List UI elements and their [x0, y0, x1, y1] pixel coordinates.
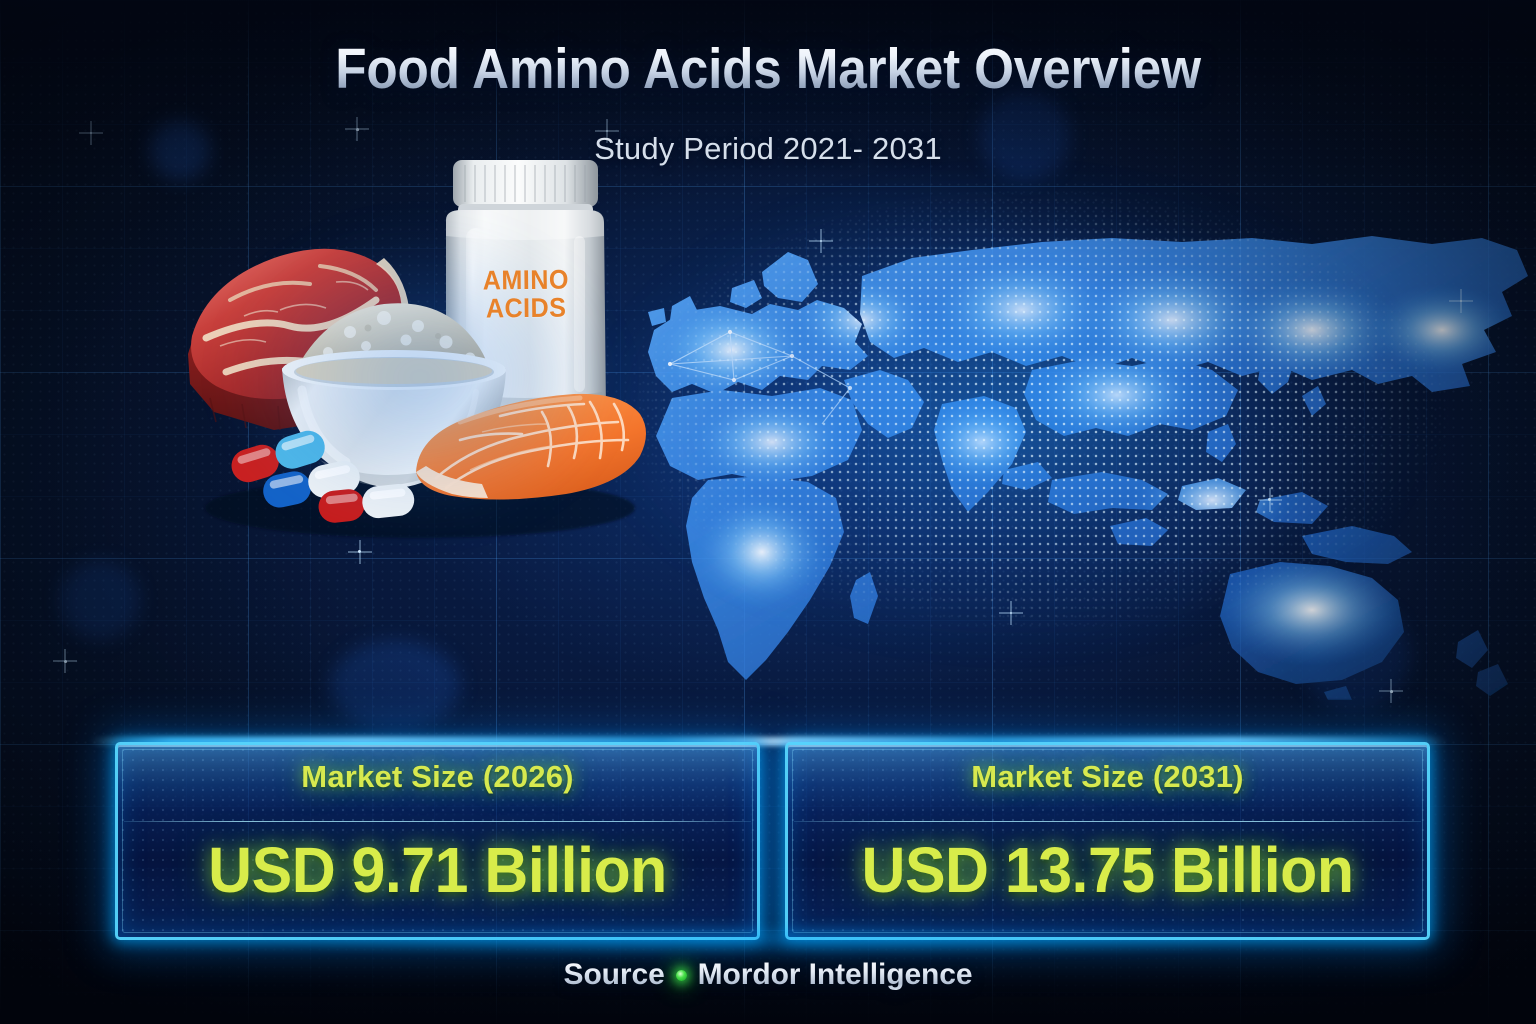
stat-card-market-size-2031[interactable]: Market Size (2031) USD 13.75 Billion — [785, 742, 1430, 940]
product-imagery-group: AMINO ACIDS — [170, 140, 670, 540]
sparkle-star — [1390, 690, 1393, 693]
source-footer: Source Mordor Intelligence — [0, 958, 1536, 992]
stat-card-label: Market Size (2026) — [118, 759, 757, 795]
bokeh-glow — [1300, 600, 1410, 710]
stat-card-market-size-2026[interactable]: Market Size (2026) USD 9.71 Billion — [115, 742, 760, 940]
sparkle-star — [1460, 300, 1462, 302]
bokeh-glow — [330, 640, 460, 730]
sparkle-star — [820, 240, 822, 242]
card-divider-line — [794, 821, 1421, 822]
green-dot-icon — [676, 970, 687, 981]
sparkle-star — [64, 660, 67, 663]
bokeh-glow — [60, 560, 140, 640]
stat-card-value: USD 13.75 Billion — [804, 833, 1411, 907]
infographic-canvas: Food Amino Acids Market Overview Study P… — [0, 0, 1536, 1024]
sparkle-star — [1268, 498, 1271, 501]
card-divider-line — [124, 821, 751, 822]
sparkle-star — [1010, 612, 1012, 614]
page-title: Food Amino Acids Market Overview — [77, 36, 1459, 102]
source-label: Source — [564, 958, 665, 992]
source-name: Mordor Intelligence — [698, 958, 973, 992]
stat-card-value: USD 9.71 Billion — [134, 833, 741, 907]
stat-card-label: Market Size (2031) — [788, 759, 1427, 795]
stat-cards-row: Market Size (2026) USD 9.71 Billion Mark… — [0, 742, 1536, 940]
sparkle-star — [358, 550, 361, 553]
